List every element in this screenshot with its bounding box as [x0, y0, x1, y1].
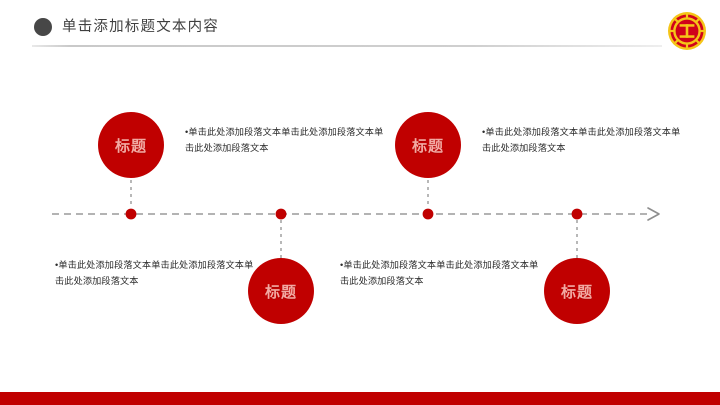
header-bullet-icon: [34, 18, 52, 36]
footer-accent-bar: [0, 392, 720, 405]
timeline-dot-node-3: [276, 209, 287, 220]
timeline-dot-node-1: [126, 209, 137, 220]
timeline-node-circle-4[interactable]: 标题: [544, 258, 610, 324]
timeline-node-circle-1[interactable]: 标题: [98, 112, 164, 178]
header-divider: [32, 45, 662, 47]
timeline-dot-node-4: [572, 209, 583, 220]
slide-canvas: 单击添加标题文本内容: [0, 0, 720, 405]
timeline-arrowhead: [648, 208, 659, 220]
node-circle-label-1: 标题: [115, 135, 147, 156]
node-description-3: •单击此处添加段落文本单击此处添加段落文本单击此处添加段落文本: [55, 257, 255, 289]
node-description-2: •单击此处添加段落文本单击此处添加段落文本单击此处添加段落文本: [482, 124, 682, 156]
timeline-axis: [0, 0, 720, 405]
page-title: 单击添加标题文本内容: [62, 16, 219, 38]
node-description-4: •单击此处添加段落文本单击此处添加段落文本单击此处添加段落文本: [340, 257, 540, 289]
trade-union-emblem-icon: [667, 11, 707, 51]
node-circle-label-2: 标题: [412, 135, 444, 156]
timeline-node-circle-3[interactable]: 标题: [248, 258, 314, 324]
node-circle-label-4: 标题: [561, 281, 593, 302]
timeline-dot-node-2: [423, 209, 434, 220]
node-description-1: •单击此处添加段落文本单击此处添加段落文本单击此处添加段落文本: [185, 124, 385, 156]
timeline-node-circle-2[interactable]: 标题: [395, 112, 461, 178]
node-circle-label-3: 标题: [265, 281, 297, 302]
